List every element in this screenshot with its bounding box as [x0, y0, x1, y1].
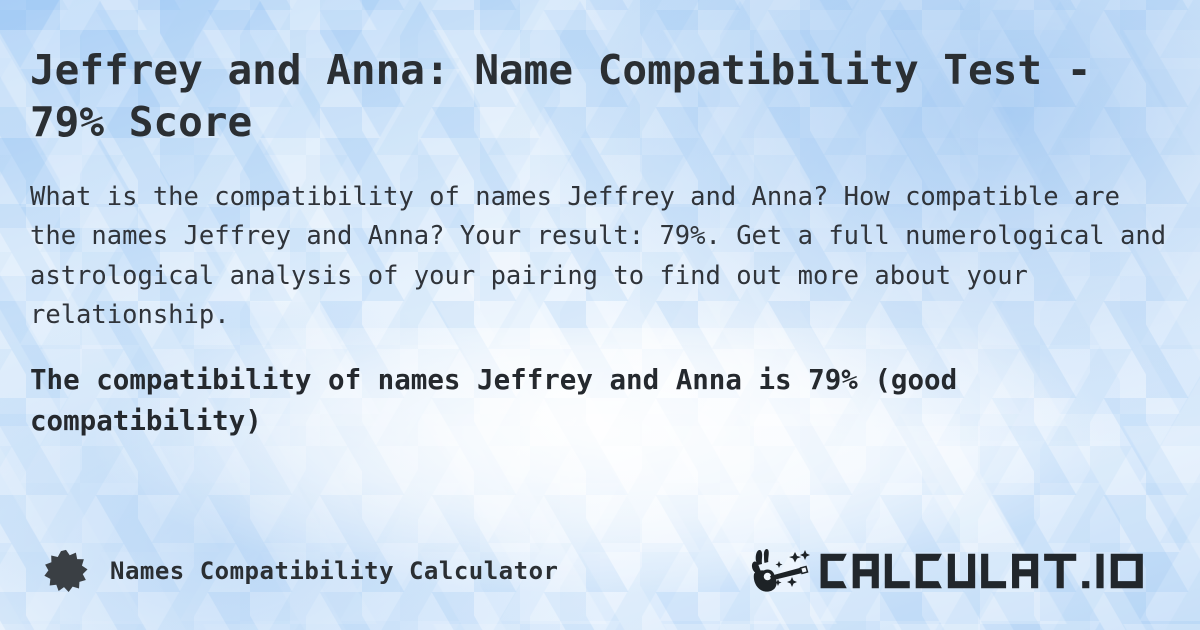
page-description: What is the compatibility of names Jeffr…: [30, 178, 1170, 336]
magic-wand-hand-icon: [749, 548, 811, 594]
calculatio-logo[interactable]: [749, 548, 1150, 594]
compatibility-result-statement: The compatibility of names Jeffrey and A…: [30, 360, 1170, 443]
card-footer: Names Compatibility Calculator: [30, 548, 1170, 630]
brand-name-label: Names Compatibility Calculator: [110, 557, 558, 585]
page-title: Jeffrey and Anna: Name Compatibility Tes…: [30, 44, 1120, 149]
starburst-icon: [44, 549, 88, 593]
share-card: Jeffrey and Anna: Name Compatibility Tes…: [0, 0, 1200, 630]
brand-block: Names Compatibility Calculator: [44, 549, 558, 593]
calculatio-wordmark: [817, 549, 1150, 593]
card-content: Jeffrey and Anna: Name Compatibility Tes…: [0, 0, 1200, 630]
